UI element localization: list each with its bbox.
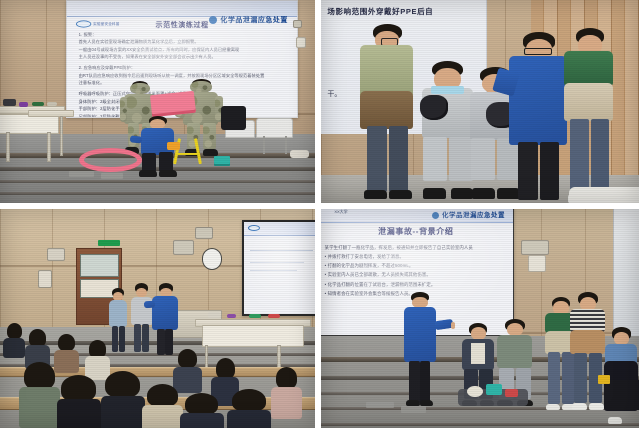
collage-panel-bottom-left bbox=[0, 209, 318, 428]
ppe-donning-photo: 场影响范围外穿戴好PPE后自 干。 bbox=[321, 0, 639, 203]
table-item-green bbox=[249, 314, 262, 318]
equipment-table-panel bbox=[202, 325, 305, 347]
audience-foreground-person bbox=[57, 375, 101, 428]
chair-right-1 bbox=[256, 118, 293, 138]
floor-marker-1 bbox=[69, 171, 94, 177]
collage-panel-top-right: 场影响范围外穿戴好PPE后自 干。 bbox=[318, 0, 639, 209]
table-item-helmet bbox=[208, 312, 221, 319]
exit-sign bbox=[98, 240, 120, 247]
wall-camera-icon bbox=[521, 240, 548, 255]
second-table bbox=[28, 110, 74, 117]
wall-lamp bbox=[528, 255, 546, 272]
wall-camera-icon bbox=[173, 240, 194, 255]
collage-panel-bottom-right: XX大学 化学品泄漏应急处置 泄漏事故--背景介绍 某学生打翻了一瓶化学品，挥发… bbox=[318, 209, 639, 428]
floor-equipment-red bbox=[505, 389, 518, 398]
window-panel bbox=[613, 209, 639, 345]
presenter-blue-coat bbox=[401, 292, 439, 406]
audience-foreground-person bbox=[180, 393, 224, 428]
floor-marker-1 bbox=[366, 402, 395, 409]
slide-text-line-2: 干。 bbox=[327, 89, 341, 99]
audience-foreground-person bbox=[19, 362, 60, 428]
wall-camera-icon bbox=[293, 20, 302, 28]
student-standing-right bbox=[563, 28, 617, 203]
standing-student-2 bbox=[569, 292, 607, 410]
shoes-on-floor bbox=[290, 150, 309, 158]
inner-shirt bbox=[471, 343, 485, 365]
white-protective-suit-bundle bbox=[569, 187, 639, 203]
slide-text-line-1: 场影响范围外穿戴好PPE后自 bbox=[327, 6, 433, 17]
audience-person bbox=[271, 367, 303, 420]
wall-panel-box bbox=[38, 270, 53, 287]
table-item-light bbox=[47, 102, 56, 106]
table-item-purple bbox=[19, 102, 28, 107]
orange-cone-prop bbox=[167, 142, 180, 150]
table-item-red bbox=[268, 314, 281, 318]
photo-collage: 实验室安全科普 化学品泄漏应急处置 示范性演练过程 1. 报警： 首先人员在实验… bbox=[0, 0, 639, 428]
table-item-green bbox=[32, 102, 45, 106]
equipment-bag bbox=[604, 380, 639, 411]
presenter-hand bbox=[451, 322, 454, 329]
table-item-dark bbox=[3, 99, 16, 105]
hood-collar bbox=[431, 86, 464, 94]
drill-demonstration-photo: 实验室安全科普 化学品泄漏应急处置 示范性演练过程 1. 报警： 首先人员在实验… bbox=[0, 0, 315, 203]
lecture-hall-audience-photo bbox=[0, 209, 315, 428]
wall-lamp bbox=[296, 37, 306, 48]
respirator-mask-left bbox=[420, 95, 449, 119]
floor-marker-2 bbox=[101, 173, 123, 179]
coat-on-chair bbox=[221, 106, 246, 130]
floor-equipment-teal bbox=[486, 384, 502, 395]
briefing-presentation-photo: XX大学 化学品泄漏应急处置 泄漏事故--背景介绍 某学生打翻了一瓶化学品，挥发… bbox=[321, 209, 639, 428]
audience-foreground-person bbox=[101, 371, 145, 428]
wall-sensor-icon bbox=[195, 227, 213, 240]
eyeglasses-icon bbox=[524, 48, 551, 55]
stage-instructor-blue bbox=[151, 283, 179, 355]
stage-person-1 bbox=[107, 288, 129, 354]
audience-foreground-person bbox=[227, 389, 271, 428]
floor-marker-2 bbox=[401, 406, 426, 413]
bag-yellow-tag bbox=[598, 375, 611, 384]
wall-speaker bbox=[47, 248, 65, 261]
teal-equipment-box bbox=[214, 156, 230, 166]
equipment-table-panel bbox=[0, 114, 59, 134]
collage-panel-top-left: 实验室安全科普 化学品泄漏应急处置 示范性演练过程 1. 报警： 首先人员在实验… bbox=[0, 0, 318, 209]
student-standing-left bbox=[359, 24, 416, 199]
audience-foreground-person bbox=[142, 384, 183, 428]
projection-screen bbox=[242, 220, 315, 316]
audience-person bbox=[3, 323, 25, 358]
instructor-blue-coat bbox=[509, 32, 569, 203]
